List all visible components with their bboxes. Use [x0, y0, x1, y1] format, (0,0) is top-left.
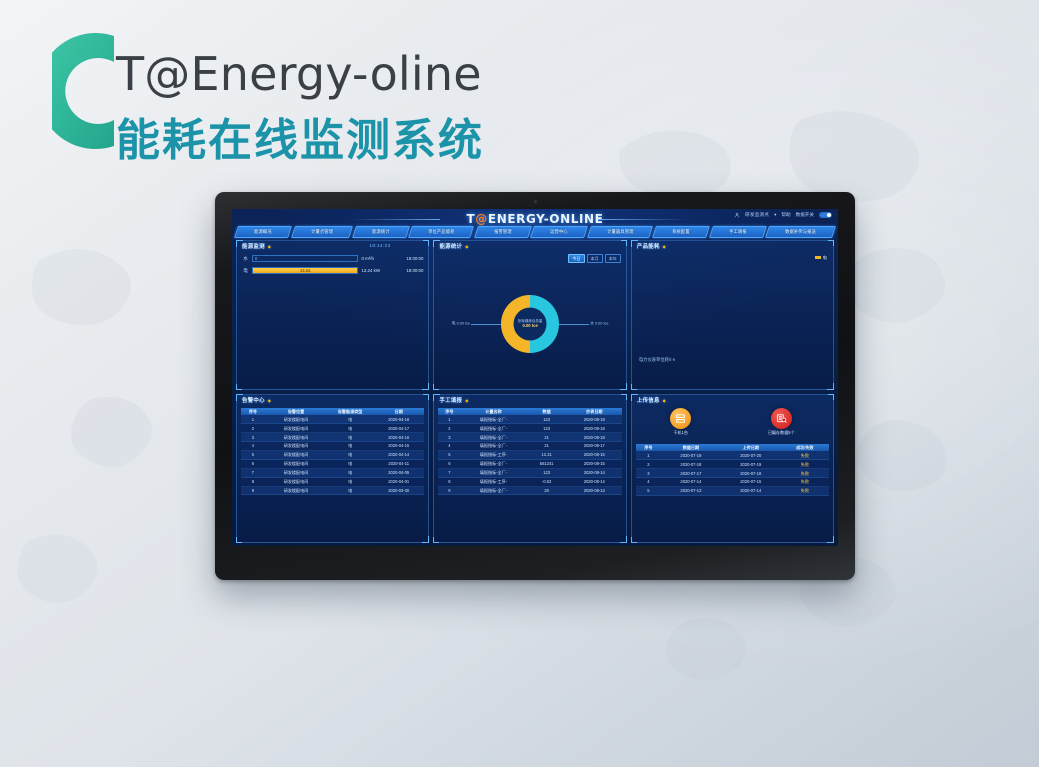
table-row[interactable]: 8研发楼配电间电2020-04-01: [241, 478, 424, 487]
report-search-icon: [771, 408, 792, 429]
table-cell: 研发楼配电间: [265, 487, 327, 495]
panel-title-product-energy: 产品能耗◆: [637, 244, 666, 251]
alarm-center-table: 序号 告警位置 告警能源类型 日期 1研发楼配电间电2020-04-182研发楼…: [241, 408, 424, 540]
table-header: 序号 告警位置 告警能源类型 日期: [241, 408, 424, 416]
table-cell: 3: [241, 433, 265, 441]
table-cell: 研发楼配电间: [265, 424, 327, 432]
energy-monitor-rows: 水 0 0 m³/h 18:00:00: [242, 255, 423, 279]
table-cell: 填报指标-全厂-: [460, 415, 526, 423]
product-energy-empty-text: 电力仪表单位耗/t·e: [639, 357, 675, 362]
energy-row-electric: 电 13.24 13.24 kW 18:00:00: [242, 267, 423, 274]
energy-donut-chart: 折标煤综合总量 0.00 tce: [501, 295, 559, 353]
user-icon[interactable]: [734, 212, 740, 218]
table-cell: 4: [438, 442, 460, 450]
table-cell: 2020-07-18: [721, 469, 781, 477]
dashboard: T@ENERGY-ONLINE 研发监测点 ▾ 帮助 数据开关: [232, 209, 838, 546]
table-row[interactable]: 22020-07-182020-07-19失败: [636, 460, 829, 469]
table-cell: 2020-08-15: [567, 460, 622, 468]
table-cell: 2020-03-30: [373, 487, 424, 495]
manual-rows-container: 1填报指标-全厂-1232020-08-192填报指标-全厂-1232020-0…: [438, 415, 621, 495]
panel-dot-icon: ◆: [663, 244, 666, 249]
table-cell: 21: [526, 433, 566, 441]
table-cell: 2020-07-19: [721, 460, 781, 468]
table-cell: 12.21: [526, 451, 566, 459]
badge-devices[interactable]: 干机1台: [670, 408, 691, 435]
table-row[interactable]: 4填报指标-全厂-212020-08-17: [438, 442, 621, 451]
table-row[interactable]: 4研发楼配电间电2020-04-15: [241, 442, 424, 451]
table-cell: 失败: [781, 451, 829, 459]
donut-label-left: 电 0.00 tce: [452, 321, 470, 326]
table-cell: 研发楼配电间: [265, 460, 327, 468]
panel-dot-icon: ◆: [465, 244, 468, 249]
toggle-switch-on-icon[interactable]: [819, 212, 832, 218]
table-cell: 2020-04-17: [373, 424, 424, 432]
table-header: 序号 数据日期 上传日期 成功/失败: [636, 444, 829, 452]
brand-block: T@Energy-oline 能耗在线监测系统: [52, 24, 572, 154]
energy-row-stamp-0: 18:00:00: [406, 256, 423, 262]
table-row[interactable]: 8填报指标-工序--0.532020-08-14: [438, 478, 621, 487]
col-header-3: 成功/失败: [781, 444, 829, 452]
nav-label-8: 手工填报: [729, 229, 747, 234]
table-cell: 电: [327, 469, 373, 477]
energy-row-stamp-1: 18:00:00: [406, 268, 423, 274]
nav-item-5[interactable]: 运营中心: [530, 226, 587, 238]
table-cell: 2020-07-19: [661, 451, 721, 459]
server-rack-icon: [670, 408, 691, 429]
main-navigation: 能源概况 计量点管理 能源统计 单位产品能耗 报警管理 运营中心 计量器具管理 …: [236, 226, 834, 238]
username-label[interactable]: 研发监测点: [745, 212, 769, 218]
table-cell: 2020-07-14: [721, 487, 781, 495]
energy-stats-title-text: 能源统计: [439, 244, 462, 250]
table-row[interactable]: 2研发楼配电间电2020-04-17: [241, 424, 424, 433]
table-cell: 2020-08-14: [567, 469, 622, 477]
period-today[interactable]: 今日: [568, 254, 584, 263]
table-cell: 研发楼配电间: [265, 451, 327, 459]
table-cell: 20: [526, 487, 566, 495]
table-cell: 填报指标-全厂-: [460, 442, 526, 450]
c-arc-logo-icon: [52, 32, 126, 150]
donut-center-value: 0.00 tce: [513, 323, 547, 328]
col-header-2: 上传日期: [721, 444, 781, 452]
table-cell: 填报指标-全厂-: [460, 433, 526, 441]
energy-monitor-title-text: 能源监测: [242, 244, 265, 250]
panel-alarm-center: 告警中心◆ 序号 告警位置 告警能源类型 日期 1研发楼配电间电2020-04-…: [236, 394, 429, 544]
table-cell: 填报指标-工序-: [460, 451, 526, 459]
table-cell: 2020-08-18: [567, 424, 622, 432]
chevron-down-icon[interactable]: ▾: [774, 212, 776, 218]
table-cell: 2020-07-17: [661, 469, 721, 477]
badge-stored-data[interactable]: 已编存数据5个: [768, 408, 795, 435]
panel-energy-stats: 能源统计◆ 今日 本月 本年 电 0.00 tce 水 0.00 tce: [433, 240, 626, 390]
table-cell: 8: [438, 478, 460, 486]
table-cell: 电: [327, 451, 373, 459]
legend-label-electric: 电: [823, 255, 827, 260]
table-cell: 研发楼配电间: [265, 433, 327, 441]
table-cell: 3: [438, 433, 460, 441]
table-cell: 2020-08-13: [567, 487, 622, 495]
table-cell: 研发楼配电间: [265, 442, 327, 450]
table-row[interactable]: 52020-07-132020-07-14失败: [636, 487, 829, 496]
table-cell: 1: [438, 415, 460, 423]
energy-row-meta-1: 13.24 kW 18:00:00: [361, 268, 423, 274]
table-cell: 电: [327, 433, 373, 441]
energy-row-bar-1: 13.24: [252, 267, 358, 274]
logo-at-icon: @: [475, 212, 488, 226]
table-row[interactable]: 3研发楼配电间电2020-04-16: [241, 433, 424, 442]
table-cell: 失败: [781, 478, 829, 486]
table-cell: 2020-07-18: [661, 460, 721, 468]
table-cell: 填报指标-全厂-: [460, 469, 526, 477]
monitor-screen: T@ENERGY-ONLINE 研发监测点 ▾ 帮助 数据开关: [232, 209, 838, 546]
table-header: 序号 计量名称 数据 抄表日期: [438, 408, 621, 416]
table-cell: 2020-08-18: [567, 433, 622, 441]
nav-item-0[interactable]: 能源概况: [234, 226, 291, 238]
panel-grid: 能源监测◆ 18:14:23 水 0 0 m³/h: [236, 240, 834, 543]
table-row[interactable]: 1研发楼配电间电2020-04-18: [241, 415, 424, 424]
nav-label-6: 计量器具管理: [607, 229, 633, 234]
brand-title-en: T@Energy-oline: [116, 47, 482, 101]
product-energy-legend: 电: [815, 255, 827, 260]
table-cell: 电: [327, 415, 373, 423]
nav-label-9: 数据补传与报送: [785, 229, 816, 234]
table-cell: 2020-07-20: [721, 451, 781, 459]
table-cell: 123: [526, 424, 566, 432]
energy-stats-period-toggle: 今日 本月 本年: [568, 254, 621, 263]
table-cell: 2020-04-18: [373, 415, 424, 423]
nav-item-4[interactable]: 报警管理: [474, 226, 531, 238]
table-cell: 2: [241, 424, 265, 432]
panel-dot-icon: ◆: [663, 398, 666, 403]
table-cell: 2020-08-14: [567, 478, 622, 486]
table-cell: 2020-04-15: [373, 442, 424, 450]
table-cell: 2020-07-13: [661, 487, 721, 495]
panel-dot-icon: ◆: [268, 398, 271, 403]
table-cell: 2020-08-15: [567, 451, 622, 459]
energy-row-value-0: 0 m³/h: [361, 256, 373, 262]
table-cell: 123: [526, 469, 566, 477]
webcam-icon: [533, 199, 538, 204]
energy-row-label-0: 水: [242, 256, 249, 262]
col-header-2: 数据: [526, 408, 566, 416]
panel-title-energy-monitor: 能源监测◆: [242, 244, 271, 251]
nav-label-5: 运营中心: [550, 229, 568, 234]
upload-badges: 干机1台 已编存数据5个: [632, 408, 833, 442]
table-cell: 2020-04-11: [373, 460, 424, 468]
table-cell: 8: [241, 478, 265, 486]
col-header-1: 告警位置: [265, 408, 327, 416]
col-header-0: 序号: [438, 408, 460, 416]
table-row[interactable]: 6填报指标-全厂-5612412020-08-15: [438, 460, 621, 469]
panel-title-alarm-center: 告警中心◆: [242, 398, 271, 405]
table-cell: 失败: [781, 460, 829, 468]
user-bar: 研发监测点 ▾ 帮助 数据开关: [734, 212, 832, 218]
col-header-1: 数据日期: [661, 444, 721, 452]
table-cell: 1: [636, 451, 661, 459]
table-cell: 2020-08-19: [567, 415, 622, 423]
table-cell: 2020-04-14: [373, 451, 424, 459]
table-cell: 21: [526, 442, 566, 450]
table-row[interactable]: 5填报指标-工序-12.212020-08-15: [438, 451, 621, 460]
table-cell: 填报指标-全厂-: [460, 487, 526, 495]
upload-info-title-text: 上传信息: [637, 398, 660, 404]
upload-info-table: 序号 数据日期 上传日期 成功/失败 12020-07-192020-07-20…: [636, 444, 829, 540]
table-cell: 6: [438, 460, 460, 468]
product-energy-title-text: 产品能耗: [637, 244, 660, 250]
nav-label-3: 单位产品能耗: [428, 229, 454, 234]
nav-item-8[interactable]: 手工填报: [709, 226, 766, 238]
donut-leader-right: [559, 324, 589, 325]
table-cell: 7: [438, 469, 460, 477]
panel-energy-monitor: 能源监测◆ 18:14:23 水 0 0 m³/h: [236, 240, 429, 390]
table-cell: 电: [327, 424, 373, 432]
table-cell: 2020-04-16: [373, 433, 424, 441]
panel-title-upload-info: 上传信息◆: [637, 398, 666, 405]
table-cell: 填报指标-全厂-: [460, 460, 526, 468]
manual-entry-table: 序号 计量名称 数据 抄表日期 1填报指标-全厂-1232020-08-192填…: [438, 408, 621, 540]
energy-monitor-time: 18:14:23: [369, 244, 390, 250]
table-row[interactable]: 2填报指标-全厂-1232020-08-18: [438, 424, 621, 433]
panel-title-manual-entry: 手工填报◆: [439, 398, 468, 405]
table-row[interactable]: 7研发楼配电间电2020-04-05: [241, 469, 424, 478]
col-header-2: 告警能源类型: [327, 408, 373, 416]
table-cell: 2020-04-01: [373, 478, 424, 486]
table-cell: 电: [327, 442, 373, 450]
table-cell: 5: [636, 487, 661, 495]
table-cell: 填报指标-工序-: [460, 478, 526, 486]
nav-item-9[interactable]: 数据补传与报送: [765, 226, 836, 238]
energy-row-bartext-0: 0: [253, 256, 357, 261]
badge-label-stored-data: 已编存数据5个: [768, 430, 795, 435]
nav-label-1: 计量点管理: [311, 229, 333, 234]
donut-label-right: 水 0.00 tce: [590, 321, 608, 326]
alarm-center-title-text: 告警中心: [242, 398, 265, 404]
table-cell: 2020-07-15: [721, 478, 781, 486]
nav-label-0: 能源概况: [254, 229, 272, 234]
userbar-item-3[interactable]: 数据开关: [796, 212, 814, 218]
col-header-3: 日期: [373, 408, 424, 416]
brand-title-cn: 能耗在线监测系统: [116, 104, 484, 168]
col-header-0: 序号: [241, 408, 265, 416]
table-cell: 2020-07-14: [661, 478, 721, 486]
table-cell: 7: [241, 469, 265, 477]
table-cell: 1: [241, 415, 265, 423]
logo-prefix: T: [467, 212, 476, 226]
table-cell: 6: [241, 460, 265, 468]
nav-item-3[interactable]: 单位产品能耗: [408, 226, 474, 238]
badge-label-devices: 干机1台: [670, 430, 691, 435]
nav-item-7[interactable]: 系统配置: [652, 226, 709, 238]
table-row[interactable]: 7填报指标-全厂-1232020-08-14: [438, 469, 621, 478]
table-cell: 2: [636, 460, 661, 468]
energy-row-bartext-1: 13.24: [253, 268, 357, 273]
col-header-0: 序号: [636, 444, 661, 452]
table-cell: 电: [327, 478, 373, 486]
table-cell: 5: [241, 451, 265, 459]
table-cell: 4: [636, 478, 661, 486]
table-cell: 失败: [781, 487, 829, 495]
panel-product-energy: 产品能耗◆ 电 电力仪表单位耗/t·e: [631, 240, 834, 390]
energy-row-bar-0: 0: [252, 255, 358, 262]
table-cell: 9: [438, 487, 460, 495]
table-row[interactable]: 3填报指标-全厂-212020-08-18: [438, 433, 621, 442]
nav-item-1[interactable]: 计量点管理: [291, 226, 353, 238]
table-cell: 失败: [781, 469, 829, 477]
legend-swatch-electric: [815, 256, 821, 260]
col-header-1: 计量名称: [460, 408, 526, 416]
period-month[interactable]: 本月: [587, 254, 603, 263]
table-row[interactable]: 32020-07-172020-07-18失败: [636, 469, 829, 478]
table-cell: 填报指标-全厂-: [460, 424, 526, 432]
energy-row-label-1: 电: [242, 268, 249, 274]
table-cell: 3: [636, 469, 661, 477]
nav-item-6[interactable]: 计量器具管理: [587, 226, 653, 238]
table-row[interactable]: 12020-07-192020-07-20失败: [636, 451, 829, 460]
alarm-rows-container: 1研发楼配电间电2020-04-182研发楼配电间电2020-04-173研发楼…: [241, 415, 424, 495]
table-row[interactable]: 1填报指标-全厂-1232020-08-19: [438, 415, 621, 424]
table-cell: 9: [241, 487, 265, 495]
nav-label-2: 能源统计: [372, 229, 390, 234]
table-cell: 电: [327, 460, 373, 468]
monitor: T@ENERGY-ONLINE 研发监测点 ▾ 帮助 数据开关: [215, 192, 855, 580]
table-cell: 研发楼配电间: [265, 469, 327, 477]
col-header-3: 抄表日期: [567, 408, 622, 416]
table-row[interactable]: 9填报指标-全厂-202020-08-13: [438, 487, 621, 496]
table-cell: 研发楼配电间: [265, 478, 327, 486]
panel-upload-info: 上传信息◆ 干机1台: [631, 394, 834, 544]
manual-entry-title-text: 手工填报: [439, 398, 462, 404]
nav-item-2[interactable]: 能源统计: [352, 226, 409, 238]
table-cell: 123: [526, 415, 566, 423]
panel-manual-entry: 手工填报◆ 序号 计量名称 数据 抄表日期 1填报指标-全厂-1232020-0…: [433, 394, 626, 544]
table-cell: 研发楼配电间: [265, 415, 327, 423]
monitor-bezel: T@ENERGY-ONLINE 研发监测点 ▾ 帮助 数据开关: [215, 192, 855, 580]
table-row[interactable]: 6研发楼配电间电2020-04-11: [241, 460, 424, 469]
table-cell: 2020-04-05: [373, 469, 424, 477]
energy-row-water: 水 0 0 m³/h 18:00:00: [242, 255, 423, 262]
table-row[interactable]: 5研发楼配电间电2020-04-14: [241, 451, 424, 460]
table-row[interactable]: 9研发楼配电间电2020-03-30: [241, 487, 424, 496]
nav-label-4: 报警管理: [493, 229, 511, 234]
userbar-item-2[interactable]: 帮助: [781, 212, 790, 218]
energy-row-meta-0: 0 m³/h 18:00:00: [361, 256, 423, 262]
upload-rows-container: 12020-07-192020-07-20失败22020-07-182020-0…: [636, 451, 829, 495]
donut-center-text: 折标煤综合总量 0.00 tce: [513, 319, 547, 329]
table-cell: 电: [327, 487, 373, 495]
table-cell: 561241: [526, 460, 566, 468]
panel-dot-icon: ◆: [465, 398, 468, 403]
nav-label-7: 系统配置: [672, 229, 690, 234]
logo-wing-right: [598, 219, 688, 220]
table-row[interactable]: 42020-07-142020-07-15失败: [636, 478, 829, 487]
table-cell: 5: [438, 451, 460, 459]
panel-dot-icon: ◆: [268, 244, 271, 249]
logo-wing-left: [350, 219, 440, 220]
energy-stats-donut-wrap: 电 0.00 tce 水 0.00 tce 折标煤综合总量 0.00 tce: [434, 263, 625, 385]
table-cell: 2: [438, 424, 460, 432]
dashboard-logo: T@ENERGY-ONLINE: [467, 212, 604, 227]
panel-title-energy-stats: 能源统计◆: [439, 244, 468, 251]
period-year[interactable]: 本年: [605, 254, 621, 263]
donut-leader-left: [471, 324, 501, 325]
logo-suffix: ENERGY-ONLINE: [488, 212, 604, 226]
table-cell: -0.53: [526, 478, 566, 486]
energy-row-value-1: 13.24 kW: [361, 268, 380, 274]
table-cell: 4: [241, 442, 265, 450]
table-cell: 2020-08-17: [567, 442, 622, 450]
